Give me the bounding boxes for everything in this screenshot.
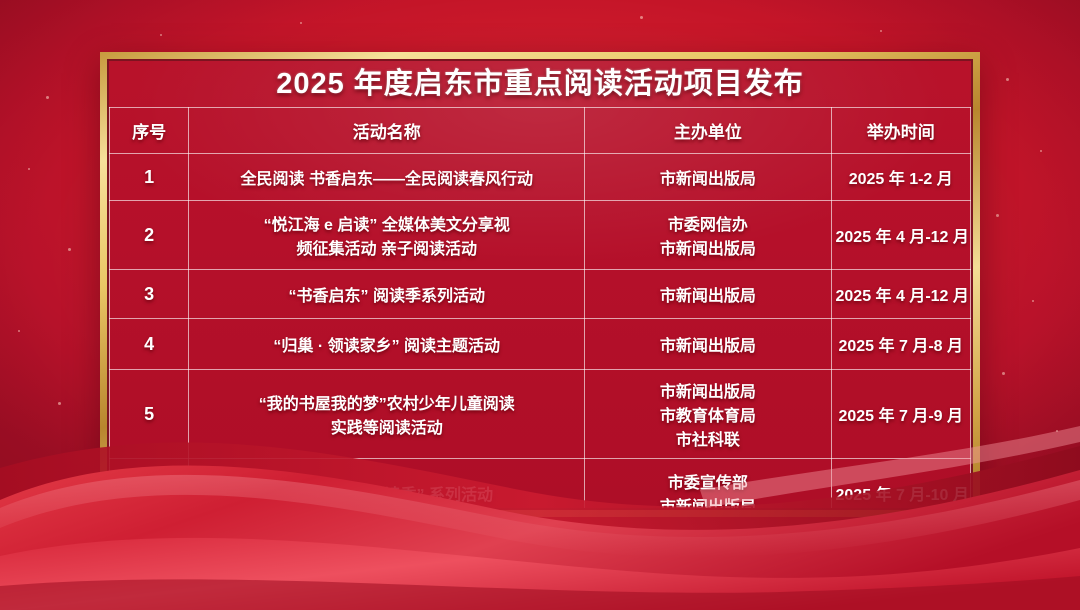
row-organizer: 市委网信办 市新闻出版局 <box>585 201 831 270</box>
table-header-row: 序号 活动名称 主办单位 举办时间 <box>110 108 971 154</box>
row-time: 2025 年 1-2 月 <box>831 154 971 201</box>
row-time: 2025 年 4 月-12 月 <box>831 270 971 319</box>
slide-canvas: 2025 年度启东市重点阅读活动项目发布 序号 活动名称 主办单位 举办时间 1 <box>0 0 1080 610</box>
table-row: 3 “书香启东” 阅读季系列活动 市新闻出版局 2025 年 4 月-12 月 <box>110 270 971 319</box>
table-row: 1 全民阅读 书香启东——全民阅读春风行动 市新闻出版局 2025 年 1-2 … <box>110 154 971 201</box>
column-header-no: 序号 <box>110 108 189 154</box>
row-activity: “书香启东” 阅读季系列活动 <box>189 270 585 319</box>
row-activity: “悦江海 e 启读” 全媒体美文分享视 频征集活动 亲子阅读活动 <box>189 201 585 270</box>
row-number: 3 <box>110 270 189 319</box>
row-number: 2 <box>110 201 189 270</box>
row-organizer: 市新闻出版局 <box>585 270 831 319</box>
page-title: 2025 年度启东市重点阅读活动项目发布 <box>109 61 971 107</box>
column-header-time: 举办时间 <box>831 108 971 154</box>
column-header-organizer: 主办单位 <box>585 108 831 154</box>
row-organizer: 市新闻出版局 <box>585 154 831 201</box>
table-row: 2 “悦江海 e 启读” 全媒体美文分享视 频征集活动 亲子阅读活动 市委网信办… <box>110 201 971 270</box>
column-header-activity: 活动名称 <box>189 108 585 154</box>
row-number: 1 <box>110 154 189 201</box>
row-time: 2025 年 4 月-12 月 <box>831 201 971 270</box>
row-activity: 全民阅读 书香启东——全民阅读春风行动 <box>189 154 585 201</box>
silk-drape-decoration <box>0 350 1080 610</box>
